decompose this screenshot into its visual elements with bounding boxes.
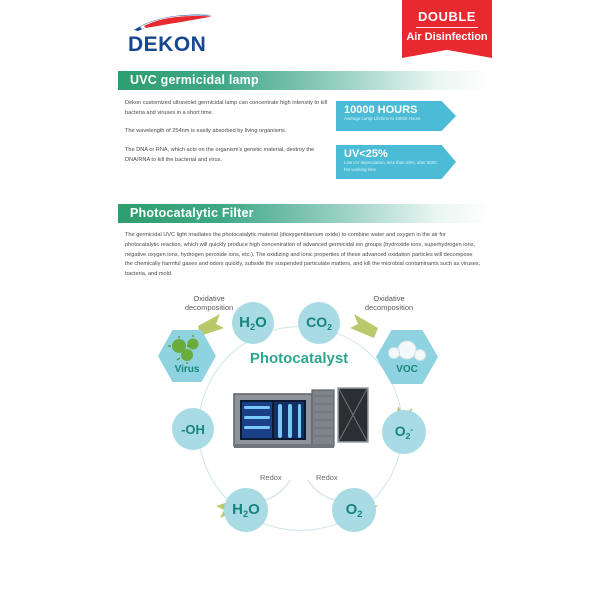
label-oxidative-left-line2: decomposition [185,303,233,312]
node-h2o-bottom: H2O [224,488,268,532]
label-oxidative-left: Oxidative decomposition [176,294,242,313]
label-oxidative-right-line1: Oxidative [373,294,404,303]
badge-10000-hours: 10000 HOURS Average Lamp Lifetime to 100… [336,101,456,131]
dekon-logo: DEKON [128,14,248,58]
double-air-disinfection-ribbon: DOUBLE Air Disinfection [402,0,492,58]
node-label-h2o-top: H2O [239,314,267,332]
infographic-page: DEKON DOUBLE Air Disinfection UVC germic… [0,0,600,600]
photocatalytic-paragraph: The germicidal UVC light irradiates the … [125,231,481,280]
ribbon-subtitle: Air Disinfection [402,31,492,43]
badge-subtitle-hours: Average Lamp Lifetime to 10000 Hours [344,116,442,123]
uv-device-image [232,380,372,460]
section-title-photocatalytic: Photocatalytic Filter [130,206,254,220]
photocatalyst-cycle-diagram: Virus H2O CO2 VOC -OH O2- [120,288,490,558]
node-label-virus: Virus [175,364,200,375]
logo-swoosh-icon [132,14,218,32]
label-redox-left: Redox [260,473,282,482]
label-redox-right: Redox [316,473,338,482]
uvc-paragraph-3: The DNA or RNA, which acts on the organi… [125,146,330,166]
badge-subtitle-uv: Low UV depreciation, less than 25%, afte… [344,160,442,173]
section-title-uvc: UVC germicidal lamp [130,73,259,87]
section-header-photocatalytic: Photocatalytic Filter [118,204,490,223]
badge-title-hours: 10000 HOURS [344,104,417,116]
ribbon-title: DOUBLE [402,9,492,24]
arrow-co2-to-voc [350,314,378,338]
center-label-photocatalyst: Photocatalyst [204,350,394,367]
node-o2: O2 [332,488,376,532]
page-header: DEKON DOUBLE Air Disinfection [0,0,600,66]
virus-icon [167,337,207,363]
uvc-paragraph-1: Dekon customized ultraviolet germicidal … [125,99,330,119]
label-oxidative-right-line2: decomposition [365,303,413,312]
node-o2-minus: O2- [382,410,426,454]
node-label-co2: CO2 [306,314,332,332]
label-oxidative-left-line1: Oxidative [193,294,224,303]
node-label-o2-minus: O2- [395,423,414,441]
label-oxidative-right: Oxidative decomposition [356,294,422,313]
logo-text: DEKON [128,33,206,57]
badge-uv-25: UV<25% Low UV depreciation, less than 25… [336,145,456,179]
node-label-oh: -OH [181,422,205,437]
ribbon-divider [416,27,478,28]
uvc-paragraph-2: The wavelength of 254nm is easily absorb… [125,127,330,137]
node-label-h2o-bottom: H2O [232,501,260,519]
section-header-uvc: UVC germicidal lamp [118,71,490,90]
node-label-o2: O2 [346,501,363,519]
badge-title-uv: UV<25% [344,148,388,160]
node-oh: -OH [172,408,214,450]
node-label-voc: VOC [396,364,418,375]
node-co2: CO2 [298,302,340,344]
